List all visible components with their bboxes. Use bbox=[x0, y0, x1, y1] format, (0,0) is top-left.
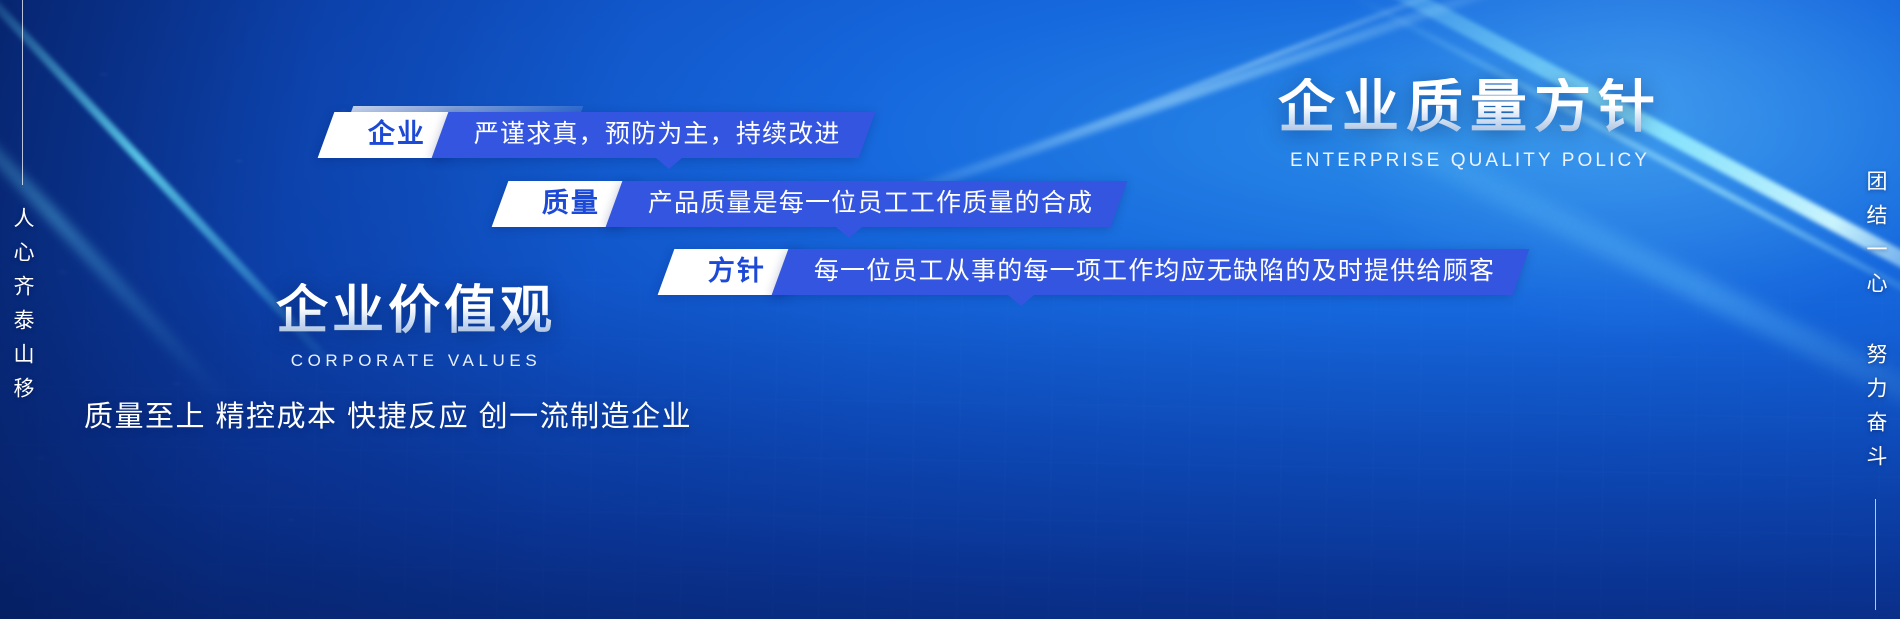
quality-policy-banner: 人心齐泰山移 团结一心 努力奋斗 企业质量方针 ENTERPRISE QUALI… bbox=[0, 0, 1900, 619]
ribbon-statement-text: 严谨求真，预防为主，持续改进 bbox=[474, 122, 841, 149]
values-tagline: 质量至上 精控成本 快捷反应 创一流制造企业 bbox=[84, 393, 692, 435]
ribbon-label-text: 方针 bbox=[708, 258, 766, 287]
values-block: 企业价值观 CORPORATE VALUES bbox=[196, 283, 636, 371]
ribbon-row-zhiliang: 质量 产品质量是每一位员工工作质量的合成 bbox=[500, 181, 1119, 227]
ribbon-row-qiye: 企业 严谨求真，预防为主，持续改进 bbox=[326, 112, 867, 158]
ribbon-statement-chip: 严谨求真，预防为主，持续改进 bbox=[432, 112, 876, 158]
ribbon-row-fangzhen: 方针 每一位员工从事的每一项工作均应无缺陷的及时提供给顾客 bbox=[666, 249, 1521, 295]
values-subtitle-en: CORPORATE VALUES bbox=[196, 351, 636, 371]
headline-title-cn: 企业质量方针 bbox=[1220, 78, 1720, 138]
ribbon-statement-text: 每一位员工从事的每一项工作均应无缺陷的及时提供给顾客 bbox=[814, 259, 1495, 286]
ribbon-statement-text: 产品质量是每一位员工工作质量的合成 bbox=[648, 191, 1093, 218]
ribbon-statement-chip: 产品质量是每一位员工工作质量的合成 bbox=[606, 181, 1128, 227]
vertical-rule-icon bbox=[1875, 499, 1876, 610]
vertical-rule-icon bbox=[22, 0, 23, 185]
left-vertical-slogan-text: 人心齐泰山移 bbox=[12, 207, 33, 411]
headline-subtitle-en: ENTERPRISE QUALITY POLICY bbox=[1220, 150, 1720, 172]
headline-block: 企业质量方针 ENTERPRISE QUALITY POLICY bbox=[1220, 78, 1720, 172]
values-title-cn: 企业价值观 bbox=[196, 283, 636, 339]
ribbon-label-text: 质量 bbox=[542, 190, 600, 219]
ribbon-label-text: 企业 bbox=[368, 121, 426, 150]
right-vertical-slogan: 团结一心 努力奋斗 bbox=[1865, 170, 1886, 610]
ribbon-statement-chip: 每一位员工从事的每一项工作均应无缺陷的及时提供给顾客 bbox=[772, 249, 1530, 295]
right-vertical-slogan-text: 团结一心 努力奋斗 bbox=[1865, 170, 1886, 479]
left-vertical-slogan: 人心齐泰山移 bbox=[12, 0, 33, 560]
